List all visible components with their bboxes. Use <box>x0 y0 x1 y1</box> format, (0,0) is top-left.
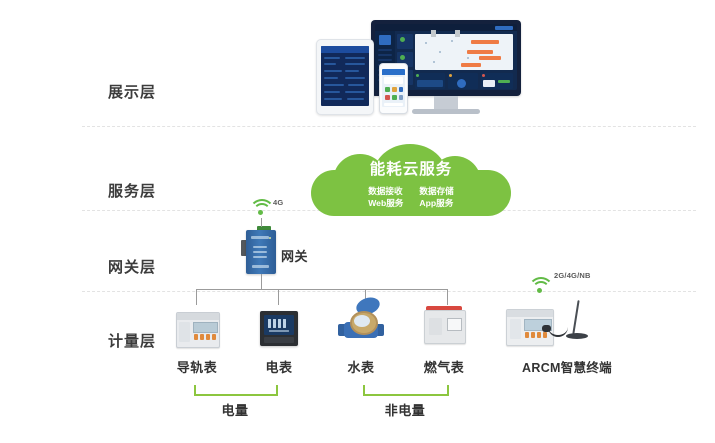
gas-meter-device <box>424 310 466 344</box>
map-callout <box>467 50 493 54</box>
widget-list-row <box>498 80 510 83</box>
tablet-row <box>324 63 336 65</box>
wifi-dot <box>537 288 542 293</box>
phone-screen <box>382 69 405 107</box>
din-rail-button <box>206 334 210 340</box>
wifi-dot <box>258 210 263 215</box>
terminal-label-arcm: ARCM智慧终端 <box>507 357 627 376</box>
arcm-button <box>531 332 535 338</box>
group-label-non-electric: 非电量 <box>363 400 447 419</box>
monitor-stat-indicator <box>400 55 405 60</box>
gateway-network-tag: 4G <box>273 198 283 207</box>
phone-header <box>382 69 405 75</box>
antenna-icon <box>572 300 579 334</box>
connector-meter-bus <box>196 289 448 290</box>
din-rail-meter-device <box>176 312 220 348</box>
cloud-item-web-service: Web服务 <box>368 197 403 209</box>
phone-app-icon <box>385 95 390 100</box>
meter-label-water: 水表 <box>333 357 389 376</box>
map-point <box>451 40 453 42</box>
cloud-column-right: 数据存储 App服务 <box>419 185 453 210</box>
tablet-row <box>345 57 365 59</box>
din-rail-button <box>212 334 216 340</box>
cloud-service-node: 能耗云服务 数据接收 Web服务 数据存储 App服务 <box>311 144 511 216</box>
din-rail-top-terminals <box>177 313 219 320</box>
widget-gauge <box>457 79 466 88</box>
widget-chart-area <box>417 80 443 87</box>
meter-label-din-rail: 导轨表 <box>167 357 227 376</box>
tablet-device <box>316 39 374 115</box>
gas-meter-index-window <box>447 318 462 331</box>
monitor-map-panel <box>415 34 513 70</box>
din-rail-display <box>193 322 218 333</box>
phone-app-icon <box>392 95 397 100</box>
tablet-header <box>321 46 369 53</box>
meter-digit <box>278 319 281 328</box>
arcm-button <box>543 332 547 338</box>
gateway-led <box>269 237 271 239</box>
gateway-label-strip <box>253 256 267 258</box>
monitor-sidebar-item <box>378 49 392 51</box>
phone-app-icon <box>385 87 390 92</box>
map-point <box>439 51 441 53</box>
electric-meter-display <box>264 315 294 335</box>
widget-indicator <box>416 74 419 77</box>
layer-label-gateway: 网关层 <box>108 256 192 277</box>
gateway-label-strip <box>251 236 269 239</box>
cloud-subitems: 数据接收 Web服务 数据存储 App服务 <box>311 185 511 210</box>
monitor-sidebar-item <box>378 54 392 56</box>
gas-meter-side-panel <box>429 318 442 335</box>
widget-indicator <box>449 74 452 77</box>
widget-indicator <box>482 74 485 77</box>
arcm-button <box>537 332 541 338</box>
antenna-connector <box>542 325 551 332</box>
water-meter-glass <box>354 315 370 327</box>
tablet-row <box>324 57 340 59</box>
tablet-row <box>345 63 365 65</box>
map-callout <box>471 40 499 44</box>
tablet-row <box>345 70 359 72</box>
arcm-button <box>525 332 529 338</box>
gateway-label: 网关 <box>281 246 308 265</box>
terminal-network-tag: 2G/4G/NB <box>554 271 591 280</box>
gateway-label-strip <box>253 246 267 248</box>
connector-gateway-to-cloud <box>261 218 262 227</box>
map-callout <box>461 63 481 67</box>
monitor-sidebar-logo <box>379 35 391 45</box>
tablet-row <box>348 84 364 86</box>
connector-drop-din-rail <box>196 289 197 305</box>
electric-meter-keypad <box>264 337 294 343</box>
layer-label-service: 服务层 <box>108 180 192 201</box>
monitor-sidebar-item <box>378 59 392 61</box>
gas-meter-pipe <box>455 30 460 37</box>
phone-banner <box>384 77 403 84</box>
gateway-label-strip <box>252 265 269 268</box>
gas-meter-pipe <box>431 30 436 37</box>
phone-app-icon <box>399 95 403 100</box>
meter-digit <box>273 319 276 328</box>
din-rail-side-panel <box>179 322 190 342</box>
bracket-non-electric-group <box>363 385 449 396</box>
divider-gateway-metering <box>82 291 696 292</box>
phone-app-icon <box>399 87 403 92</box>
tablet-screen <box>321 46 369 106</box>
map-point <box>433 61 435 63</box>
din-rail-button <box>200 334 204 340</box>
wifi-icon <box>528 277 550 293</box>
tablet-row <box>324 77 338 79</box>
monitor-titlebar-badge <box>495 26 513 30</box>
smartphone-device <box>379 63 408 114</box>
tablet-row <box>345 91 365 93</box>
connector-drop-electric <box>278 289 279 305</box>
meter-label-gas: 燃气表 <box>416 357 472 376</box>
gateway-label-strip <box>253 251 267 253</box>
architecture-diagram: 展示层 服务层 网关层 计量层 <box>0 0 715 443</box>
tablet-row <box>347 98 364 100</box>
arcm-top-terminals <box>507 310 553 317</box>
meter-subtext <box>269 330 289 332</box>
meter-digit <box>283 319 286 328</box>
monitor-stat-indicator <box>400 37 405 42</box>
gateway-device <box>246 230 276 274</box>
arcm-side-panel <box>510 319 521 339</box>
electric-meter-device <box>260 311 298 346</box>
meter-label-electric: 电表 <box>251 357 307 376</box>
cloud-column-left: 数据接收 Web服务 <box>368 185 403 210</box>
cloud-item-app-service: App服务 <box>419 197 453 209</box>
widget-list-row <box>483 80 495 87</box>
tablet-row <box>345 77 365 79</box>
cloud-item-data-storage: 数据存储 <box>419 185 453 197</box>
monitor-stand-base <box>412 109 480 114</box>
monitor-stat-tile <box>397 34 413 49</box>
tablet-row <box>324 84 344 86</box>
group-label-electric: 电量 <box>194 400 276 419</box>
connector-drop-gas <box>447 289 448 305</box>
tablet-row <box>324 98 342 100</box>
tablet-row <box>324 91 340 93</box>
cloud-title: 能耗云服务 <box>311 162 511 178</box>
cloud-item-data-receive: 数据接收 <box>368 185 403 197</box>
antenna-base <box>566 333 588 339</box>
meter-digit <box>268 319 271 328</box>
divider-display-service <box>82 126 696 127</box>
map-point <box>467 57 469 59</box>
monitor-stand-neck <box>434 96 458 110</box>
phone-row <box>384 103 403 106</box>
map-point <box>425 42 427 44</box>
phone-app-icon <box>392 87 397 92</box>
cloud-text-block: 能耗云服务 数据接收 Web服务 数据存储 App服务 <box>311 144 511 209</box>
tablet-row <box>324 70 342 72</box>
layer-label-display: 展示层 <box>108 81 192 102</box>
map-callout <box>479 56 501 60</box>
bracket-electric-group <box>194 385 278 396</box>
connector-gateway-trunk <box>261 274 262 289</box>
wifi-icon <box>249 199 271 215</box>
din-rail-button <box>194 334 198 340</box>
